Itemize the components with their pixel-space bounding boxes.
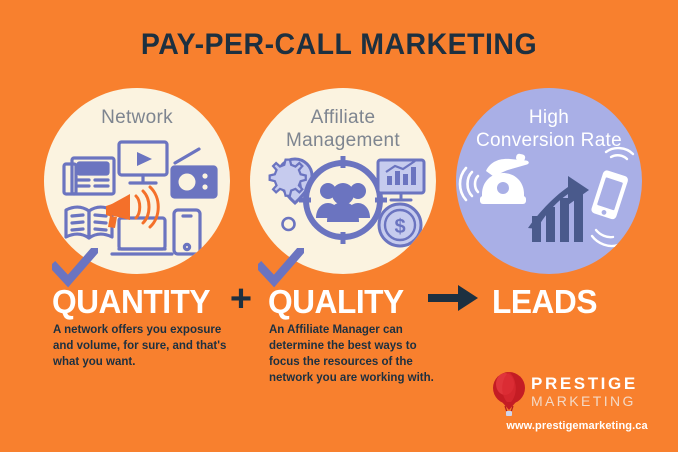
growth-chart-arrow-icon bbox=[528, 176, 589, 242]
arrow-right-icon bbox=[428, 281, 478, 315]
logo-url[interactable]: www.prestigemarketing.ca bbox=[490, 420, 664, 432]
circle-conversion: High Conversion Rate bbox=[456, 88, 642, 274]
checkmark-icon-quality bbox=[258, 248, 304, 288]
circle-network: Network bbox=[44, 88, 230, 274]
body-quality: An Affiliate Manager can determine the b… bbox=[269, 322, 447, 386]
circle-network-icons bbox=[44, 88, 230, 274]
circle-conversion-icons bbox=[456, 88, 642, 274]
monitor-play-icon bbox=[119, 142, 167, 183]
page-title: PAY-PER-CALL MARKETING bbox=[17, 28, 661, 62]
logo-wordmark: PRESTIGE MARKETING bbox=[531, 374, 638, 410]
checkmark-icon-quantity bbox=[52, 248, 98, 288]
ringing-phone-waves-icon bbox=[460, 168, 478, 200]
heading-leads: LEADS bbox=[492, 283, 597, 321]
megaphone-waves-icon bbox=[136, 187, 158, 227]
logo-name-primary: PRESTIGE bbox=[531, 374, 638, 393]
svg-text:$: $ bbox=[394, 216, 405, 238]
monitor-chart-icon bbox=[378, 160, 424, 200]
ringing-phone-icon bbox=[480, 153, 529, 204]
smartphone-icon bbox=[174, 210, 200, 254]
book-icon bbox=[66, 207, 112, 238]
hot-air-balloon-icon bbox=[489, 370, 529, 418]
body-quantity: A network offers you exposure and volume… bbox=[53, 322, 231, 370]
plus-operator: + bbox=[224, 282, 258, 316]
heading-quality: QUALITY bbox=[268, 283, 404, 321]
prestige-marketing-logo[interactable]: PRESTIGE MARKETING www.prestigemarketing… bbox=[489, 370, 664, 432]
circle-affiliate-icons: $ bbox=[250, 88, 436, 274]
dollar-coin-icon: $ bbox=[379, 204, 421, 246]
vibrating-mobile-icon bbox=[590, 148, 633, 246]
heading-quantity: QUANTITY bbox=[52, 283, 210, 321]
circle-affiliate: Affiliate Management bbox=[250, 88, 436, 274]
radio-icon bbox=[172, 149, 216, 197]
newspaper-icon bbox=[64, 158, 114, 194]
logo-name-secondary: MARKETING bbox=[531, 393, 638, 410]
infographic-canvas: PAY-PER-CALL MARKETING Network bbox=[0, 0, 678, 452]
